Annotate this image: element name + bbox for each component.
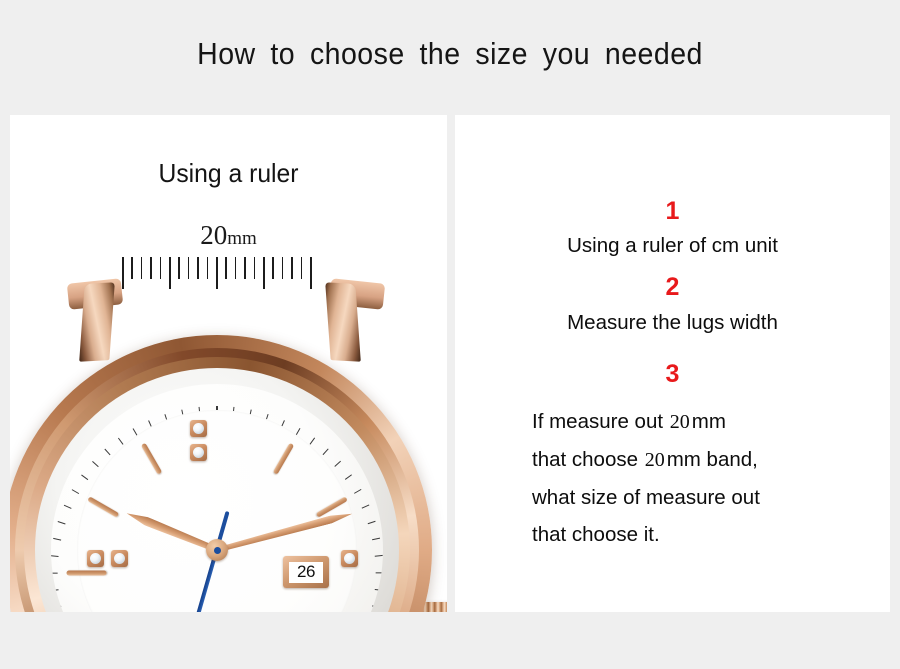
left-panel-heading: Using a ruler <box>21 158 436 189</box>
step-number-1: 1 <box>455 197 890 226</box>
watch-chapter-ring: 26 AUTOMATIC WATER RESISTANT 50 METERS <box>35 368 399 612</box>
ruler-tick <box>282 257 284 279</box>
step-text-1: Using a ruler of cm unit <box>455 234 890 258</box>
step3-line-1: If measure out 20mm <box>532 403 832 441</box>
measurement-value: 20 <box>200 220 227 250</box>
ruler-graphic <box>122 257 310 289</box>
watch-dial: 26 AUTOMATIC WATER RESISTANT 50 METERS <box>51 384 383 612</box>
step-text-3: If measure out 20mm that choose 20mm ban… <box>532 403 832 553</box>
ruler-tick <box>291 257 293 279</box>
diamond-marker-12b <box>190 444 207 461</box>
diamond-marker-9b <box>111 550 128 567</box>
ruler-tick <box>310 257 312 289</box>
ruler-tick <box>122 257 124 289</box>
ruler-tick <box>141 257 143 279</box>
step3-line2-suffix: mm band, <box>667 448 758 471</box>
step-number-3: 3 <box>455 360 890 389</box>
ruler-tick <box>225 257 227 279</box>
step3-line-3: what size of measure out <box>532 479 832 516</box>
watch-center-pin <box>214 547 221 554</box>
left-panel: 26 AUTOMATIC WATER RESISTANT 50 METERS <box>10 115 447 612</box>
ruler-tick <box>197 257 199 279</box>
ruler-tick <box>254 257 256 279</box>
ruler-tick <box>207 257 209 279</box>
diamond-marker-3 <box>341 550 358 567</box>
step3-line-2: that choose 20mm band, <box>532 441 832 479</box>
watch-illustration: 26 AUTOMATIC WATER RESISTANT 50 METERS <box>10 115 447 612</box>
watch-case-ring-mid: 26 AUTOMATIC WATER RESISTANT 50 METERS <box>15 348 419 612</box>
watch-date-value: 26 <box>289 562 323 583</box>
diamond-marker-9a <box>87 550 104 567</box>
diamond-marker-12a <box>190 420 207 437</box>
step3-line1-prefix: If measure out <box>532 410 663 433</box>
measurement-label: 20mm <box>10 220 447 251</box>
ruler-tick <box>178 257 180 279</box>
page-title: How to choose the size you needed <box>36 36 864 72</box>
watch-case: 26 AUTOMATIC WATER RESISTANT 50 METERS <box>10 335 432 612</box>
ruler-tick <box>235 257 237 279</box>
step3-line2-prefix: that choose <box>532 448 638 471</box>
ruler-tick <box>216 257 218 289</box>
watch-crown <box>422 602 447 612</box>
step3-line1-suffix: mm <box>692 410 726 433</box>
ruler-tick <box>272 257 274 279</box>
ruler-tick <box>169 257 171 289</box>
watch-diamond-markers <box>51 384 383 612</box>
step3-line-4: that choose it. <box>532 516 832 553</box>
ruler-tick <box>263 257 265 289</box>
watch-lug-right <box>325 282 361 361</box>
measurement-unit: mm <box>227 228 257 249</box>
step3-line2-number: 20 <box>644 449 667 471</box>
ruler-tick <box>188 257 190 279</box>
watch-date-window: 26 <box>283 556 329 588</box>
right-panel: 1 Using a ruler of cm unit 2 Measure the… <box>455 115 890 612</box>
step3-line1-number: 20 <box>669 411 692 433</box>
instruction-steps: 1 Using a ruler of cm unit 2 Measure the… <box>455 115 890 612</box>
step-text-2: Measure the lugs width <box>455 311 890 335</box>
watch-bezel: 26 AUTOMATIC WATER RESISTANT 50 METERS <box>24 357 410 612</box>
ruler-tick <box>160 257 162 279</box>
ruler-tick <box>150 257 152 279</box>
watch-lug-left <box>79 282 115 361</box>
step-number-2: 2 <box>455 273 890 302</box>
ruler-tick <box>131 257 133 279</box>
ruler-tick <box>244 257 246 279</box>
ruler-tick <box>301 257 303 279</box>
